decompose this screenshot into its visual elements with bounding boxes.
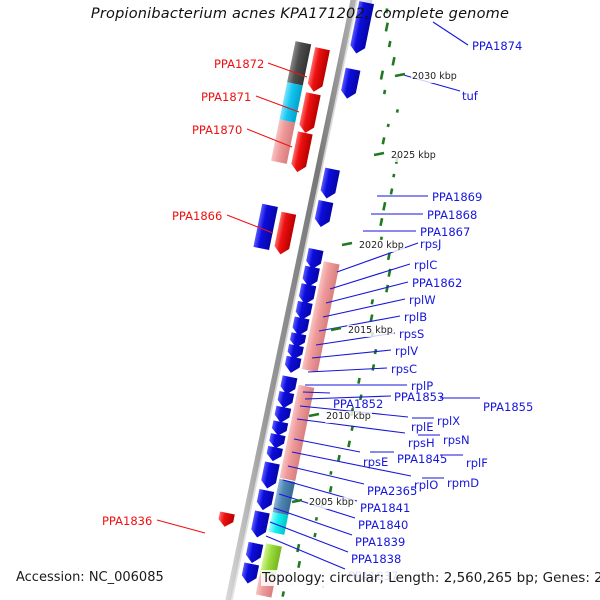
gene-label-rpsn[interactable]: rpsN (443, 434, 470, 446)
axis-tick-label: 2010 kbp (325, 411, 372, 423)
gene-feature-g-1840[interactable] (250, 511, 270, 539)
gene-label-tuf[interactable]: tuf (462, 90, 478, 102)
axis-tick-mark (342, 243, 352, 245)
gene-label-ppa1852[interactable]: PPA1852 (333, 398, 383, 410)
gene-label-rplc[interactable]: rplC (414, 259, 437, 271)
gc-skew-tick (357, 378, 361, 384)
gene-label-ppa1868[interactable]: PPA1868 (427, 209, 477, 221)
axis-tick-label: 2025 kbp (390, 150, 437, 162)
gc-skew-tick (315, 517, 318, 521)
gc-skew-tick (390, 188, 394, 194)
gene-label-ppa1853[interactable]: PPA1853 (394, 391, 444, 403)
gene-label-ppa1855[interactable]: PPA1855 (483, 401, 533, 413)
gc-skew-tick (385, 22, 389, 31)
gene-feature-g-rpsC[interactable] (284, 356, 302, 375)
gene-label-rple[interactable]: rplE (411, 421, 434, 433)
axis-tick-mark (395, 74, 405, 76)
leader-line (270, 522, 348, 552)
gene-label-ppa1866[interactable]: PPA1866 (172, 210, 222, 222)
gene-feature-r-4[interactable] (273, 212, 296, 256)
page-title: Propionibacterium acnes KPA171202, compl… (0, 6, 600, 22)
gc-skew-tick (392, 174, 395, 178)
gc-skew-tick (396, 109, 399, 113)
leader-line (433, 22, 468, 45)
axis-tick-label: 2020 kbp (358, 240, 405, 252)
gc-skew-tick (329, 471, 332, 475)
gc-skew-tick (329, 486, 333, 493)
gc-skew-tick (380, 70, 384, 79)
gene-feature-o-1841[interactable] (273, 479, 295, 516)
gc-skew-tick (337, 455, 341, 462)
gene-label-ppa1870[interactable]: PPA1870 (192, 124, 242, 136)
topology-text: Topology: circular; Length: 2,560,265 bp… (261, 570, 600, 586)
gene-label-rplw[interactable]: rplW (409, 294, 436, 306)
gene-feature-r-2[interactable] (298, 92, 321, 134)
leader-line (292, 452, 411, 476)
axis-tick-mark (309, 414, 319, 416)
gene-feature-r-1[interactable] (306, 47, 330, 93)
gc-skew-tick (387, 124, 390, 128)
gene-feature-g-1869[interactable] (319, 168, 340, 200)
gene-feature-g-1841[interactable] (255, 489, 274, 512)
gene-label-rplo[interactable]: rplO (414, 479, 438, 491)
gc-skew-tick (383, 90, 386, 95)
gene-label-ppa1839[interactable]: PPA1839 (355, 536, 405, 548)
gene-label-ppa1840[interactable]: PPA1840 (358, 519, 408, 531)
axis-tick-label: 2015 kbp (347, 325, 394, 337)
gc-skew-tick (379, 218, 383, 226)
gene-label-ppa1862[interactable]: PPA1862 (412, 277, 462, 289)
gene-feature-o-1840[interactable] (269, 512, 289, 535)
gc-skew-tick (391, 57, 395, 66)
gene-feature-o-1872[interactable] (287, 41, 311, 85)
gc-skew-tick (281, 591, 285, 597)
gene-label-ppa1872[interactable]: PPA1872 (214, 58, 264, 70)
gc-skew-tick (388, 41, 392, 48)
gene-feature-g-1837[interactable] (240, 562, 259, 585)
gene-label-ppa1841[interactable]: PPA1841 (360, 502, 410, 514)
axis-tick-mark (374, 153, 384, 155)
axis-tick-mark (292, 500, 302, 502)
gc-skew-tick (347, 441, 351, 448)
gene-label-rplb[interactable]: rplB (404, 311, 427, 323)
accession-text: Accession: NC_006085 (16, 570, 164, 585)
gene-label-ppa2365[interactable]: PPA2365 (367, 485, 417, 497)
leader-line (330, 264, 410, 289)
gene-label-ppa1836[interactable]: PPA1836 (102, 515, 152, 527)
gene-label-ppa1874[interactable]: PPA1874 (472, 40, 522, 52)
gene-label-rplf[interactable]: rplF (466, 457, 488, 469)
gene-feature-g-1868[interactable] (313, 200, 333, 228)
gene-label-rpsc[interactable]: rpsC (391, 363, 417, 375)
gene-feature-g-rplO[interactable] (265, 446, 283, 463)
gene-label-ppa1871[interactable]: PPA1871 (201, 91, 251, 103)
gc-skew-tick (297, 561, 301, 568)
axis-tick-label: 2030 kbp (411, 71, 458, 83)
genome-viewer-canvas[interactable]: Propionibacterium acnes KPA171202, compl… (0, 0, 600, 600)
gene-label-rpmd[interactable]: rpmD (447, 477, 479, 489)
gc-skew-tick (371, 364, 375, 371)
gene-label-rplx[interactable]: rplX (437, 415, 460, 427)
leader-line (308, 368, 387, 372)
leader-line (323, 299, 405, 317)
genome-graphics-layer (0, 0, 600, 600)
gene-feature-r-5[interactable] (217, 512, 235, 529)
gc-skew-tick (371, 299, 375, 304)
leader-line (157, 520, 205, 533)
leader-line (288, 466, 364, 484)
gene-feature-g-1838[interactable] (245, 542, 264, 565)
gene-label-ppa1845[interactable]: PPA1845 (397, 453, 447, 465)
leader-line (312, 350, 391, 358)
gene-label-rpsj[interactable]: rpsJ (420, 238, 441, 250)
gene-feature-o-1870[interactable] (271, 119, 295, 163)
gc-skew-tick (382, 202, 386, 211)
gene-label-rpss[interactable]: rpsS (399, 328, 424, 340)
gene-label-ppa1869[interactable]: PPA1869 (432, 191, 482, 203)
gene-label-rplv[interactable]: rplV (395, 345, 418, 357)
gene-label-rpse[interactable]: rpsE (363, 456, 388, 468)
gc-skew-tick (385, 285, 389, 293)
gc-skew-tick (382, 137, 386, 144)
axis-tick-label: 2005 kbp (308, 497, 355, 509)
gene-feature-o-1871[interactable] (279, 82, 302, 122)
gene-label-rpsh[interactable]: rpsH (408, 437, 435, 449)
gene-feature-r-3[interactable] (290, 131, 313, 173)
leader-line (326, 282, 408, 303)
gc-skew-tick (313, 533, 316, 538)
gc-skew-tick (296, 544, 300, 552)
gene-label-ppa1838[interactable]: PPA1838 (351, 553, 401, 565)
gene-feature-g-2365[interactable] (260, 462, 280, 490)
